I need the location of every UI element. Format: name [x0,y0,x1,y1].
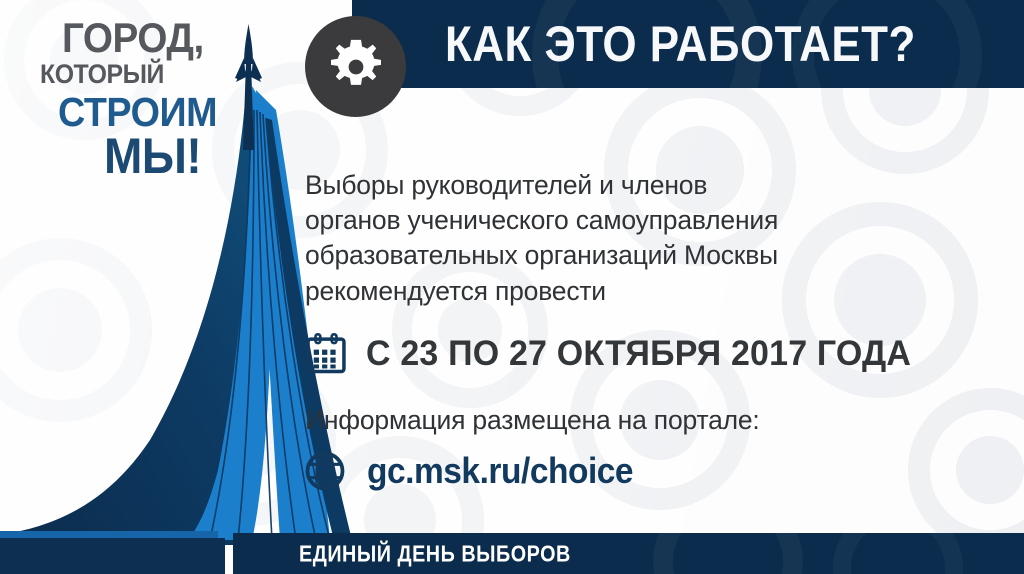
footer-slogan: ЕДИНЫЙ ДЕНЬ ВЫБОРОВ [299,540,571,567]
poster-canvas: ГОРОД, КОТОРЫЙ СТРОИМ МЫ! КАК ЭТО РАБОТА… [0,0,1024,574]
url-row[interactable]: gc.msk.ru/choice [305,450,985,492]
logo-line-gorod: ГОРОД, [62,18,238,58]
gear-badge [305,16,406,117]
description-line: рекомендуется провести [305,274,985,309]
portal-url[interactable]: gc.msk.ru/choice [367,450,633,492]
date-row: С 23 ПО 27 ОКТЯБРЯ 2017 ГОДА [305,333,985,375]
monument-pedestal-cap [0,531,218,538]
description-line: Выборы руководителей и членов [305,168,985,203]
description-line: органов ученического самоуправления [305,203,985,238]
portal-label: Информация размещена на портале: [305,405,985,436]
logo-line-kotoryy: КОТОРЫЙ [40,62,236,88]
campaign-logo: ГОРОД, КОТОРЫЙ СТРОИМ МЫ! [38,18,253,181]
monument-pedestal [0,538,225,574]
logo-line-my: МЫ! [104,133,241,181]
gear-icon [325,36,387,98]
description-paragraph: Выборы руководителей и членов органов уч… [305,168,985,309]
logo-line-stroim: СТРОИМ [58,93,237,132]
header-bar: КАК ЭТО РАБОТАЕТ? [352,0,1024,88]
description-line: образовательных организаций Москвы [305,238,985,273]
calendar-icon [305,333,347,375]
globe-icon [305,451,345,491]
main-content: Выборы руководителей и членов органов уч… [305,168,985,492]
footer-bar: ЕДИНЫЙ ДЕНЬ ВЫБОРОВ [233,533,1024,574]
page-title: КАК ЭТО РАБОТАЕТ? [445,15,916,73]
election-date-range: С 23 ПО 27 ОКТЯБРЯ 2017 ГОДА [366,334,911,374]
